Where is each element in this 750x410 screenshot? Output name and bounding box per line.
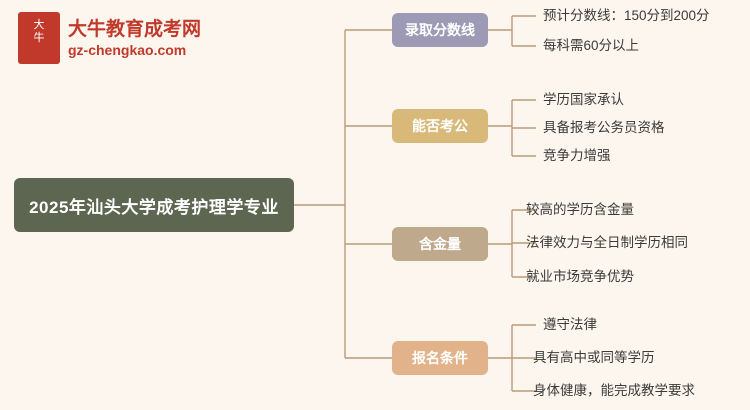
leaf-item: 就业市场竞争优势 bbox=[526, 269, 634, 285]
branch-node-requirements[interactable]: 报名条件 bbox=[392, 341, 488, 375]
logo-mark-line2: 牛 bbox=[18, 32, 60, 45]
branch-node-value[interactable]: 含金量 bbox=[392, 227, 488, 261]
logo-subtitle: gz-chengkao.com bbox=[68, 42, 186, 58]
leaf-item: 每科需60分以上 bbox=[543, 38, 639, 54]
logo-mark-icon: 大 牛 bbox=[18, 12, 60, 64]
leaf-item: 具备报考公务员资格 bbox=[543, 120, 665, 136]
logo-title: 大牛教育成考网 bbox=[68, 14, 201, 41]
leaf-item: 遵守法律 bbox=[543, 317, 597, 333]
leaf-item: 竞争力增强 bbox=[543, 148, 611, 164]
site-logo[interactable]: 大 牛 大牛教育成考网 gz-chengkao.com bbox=[18, 12, 218, 64]
branch-node-civil-service[interactable]: 能否考公 bbox=[392, 109, 488, 143]
logo-mark-line1: 大 bbox=[18, 19, 60, 32]
leaf-item: 较高的学历含金量 bbox=[526, 202, 634, 218]
mindmap-root-node[interactable]: 2025年汕头大学成考护理学专业 bbox=[14, 178, 294, 232]
leaf-item: 法律效力与全日制学历相同 bbox=[526, 235, 688, 251]
leaf-item: 身体健康，能完成教学要求 bbox=[533, 383, 695, 399]
leaf-item: 学历国家承认 bbox=[543, 92, 624, 108]
mindmap-canvas: 大 牛 大牛教育成考网 gz-chengkao.com 2025年汕头大学成考护… bbox=[0, 0, 750, 410]
leaf-item: 预计分数线：150分到200分 bbox=[543, 8, 710, 24]
leaf-item: 具有高中或同等学历 bbox=[533, 350, 655, 366]
branch-node-score-line[interactable]: 录取分数线 bbox=[392, 13, 488, 47]
